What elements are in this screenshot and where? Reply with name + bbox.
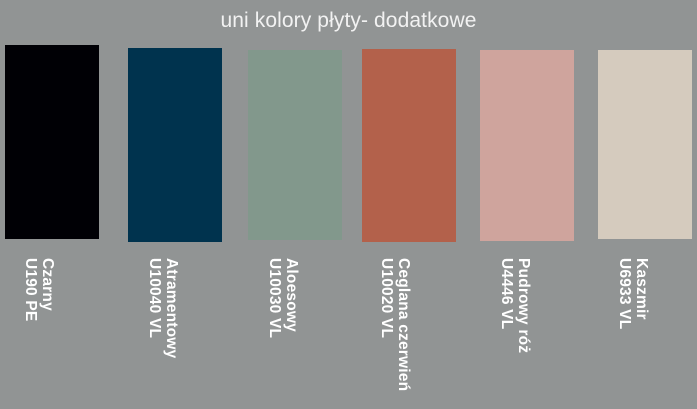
swatch-code: U10030 VL: [266, 258, 283, 338]
swatch-code: U190 PE: [22, 258, 39, 321]
swatch-code: U4446 VL: [498, 258, 515, 329]
page-title: uni kolory płyty- dodatkowe: [0, 8, 697, 34]
color-swatch[interactable]: [128, 48, 222, 242]
swatch-column: KaszmirU6933 VL: [598, 0, 692, 409]
color-swatch[interactable]: [362, 49, 456, 242]
swatch-column: CzarnyU190 PE: [5, 0, 99, 409]
swatch-column: AtramentowyU10040 VL: [128, 0, 222, 409]
color-palette-board: uni kolory płyty- dodatkowe CzarnyU190 P…: [0, 0, 697, 409]
color-swatch[interactable]: [598, 50, 692, 239]
swatch-code: U10040 VL: [146, 258, 163, 338]
swatch-code: U10020 VL: [378, 258, 395, 338]
swatch-name: Ceglana czerwień: [395, 258, 412, 391]
swatch-code: U6933 VL: [616, 258, 633, 329]
swatch-label: KaszmirU6933 VL: [616, 258, 692, 329]
swatch-label: AloesowyU10030 VL: [266, 258, 342, 338]
swatch-column: AloesowyU10030 VL: [248, 0, 342, 409]
color-swatch[interactable]: [248, 50, 342, 240]
swatch-name: Aloesowy: [283, 258, 300, 332]
swatch-column: Ceglana czerwieńU10020 VL: [362, 0, 456, 409]
swatch-name: Kaszmir: [633, 258, 650, 320]
swatch-label: Ceglana czerwieńU10020 VL: [378, 258, 456, 391]
swatch-name: Atramentowy: [163, 258, 180, 358]
swatch-column: Pudrowy różU4446 VL: [480, 0, 574, 409]
swatch-label: AtramentowyU10040 VL: [146, 258, 222, 358]
swatch-label: Pudrowy różU4446 VL: [498, 258, 574, 353]
color-swatch[interactable]: [480, 50, 574, 241]
swatch-label: CzarnyU190 PE: [22, 258, 99, 321]
swatch-name: Pudrowy róż: [515, 258, 532, 353]
swatch-name: Czarny: [39, 258, 56, 311]
color-swatch[interactable]: [5, 45, 99, 239]
